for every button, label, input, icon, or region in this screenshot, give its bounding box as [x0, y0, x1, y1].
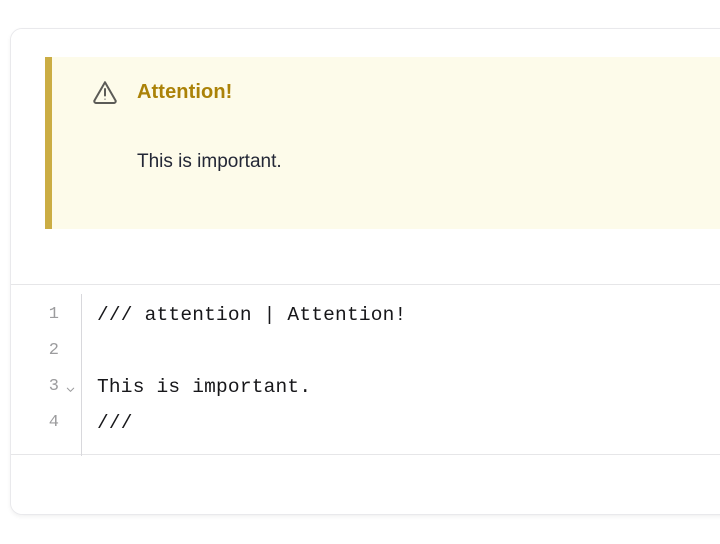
callout-title-row: Attention!	[91, 78, 232, 106]
code-line[interactable]: 3This is important.	[11, 369, 720, 405]
line-number: 1	[11, 297, 59, 333]
line-number: 2	[11, 333, 59, 369]
rendered-preview-pane: Attention! This is important.	[11, 29, 720, 285]
code-line[interactable]: 1/// attention | Attention!	[11, 297, 720, 333]
line-number: 4	[11, 405, 59, 441]
code-editor-surface[interactable]: 1/// attention | Attention!23This is imp…	[11, 285, 720, 455]
source-code-pane: 1/// attention | Attention!23This is imp…	[11, 285, 720, 515]
code-line-text: This is important.	[97, 369, 311, 405]
markdown-callout-preview-card: Attention! This is important. 1/// atten…	[10, 28, 720, 515]
callout-title: Attention!	[137, 82, 232, 102]
code-line-list: 1/// attention | Attention!23This is imp…	[11, 297, 720, 441]
line-number: 3	[11, 369, 59, 405]
callout-body-text: This is important.	[137, 150, 282, 175]
page-root: Attention! This is important. 1/// atten…	[0, 0, 720, 544]
code-line[interactable]: 2	[11, 333, 720, 369]
code-line-text: ///	[97, 405, 133, 441]
warning-triangle-icon	[91, 78, 119, 106]
code-line-text: /// attention | Attention!	[97, 297, 406, 333]
code-line[interactable]: 4///	[11, 405, 720, 441]
chevron-down-icon[interactable]	[65, 382, 76, 393]
attention-callout: Attention! This is important.	[45, 57, 720, 229]
